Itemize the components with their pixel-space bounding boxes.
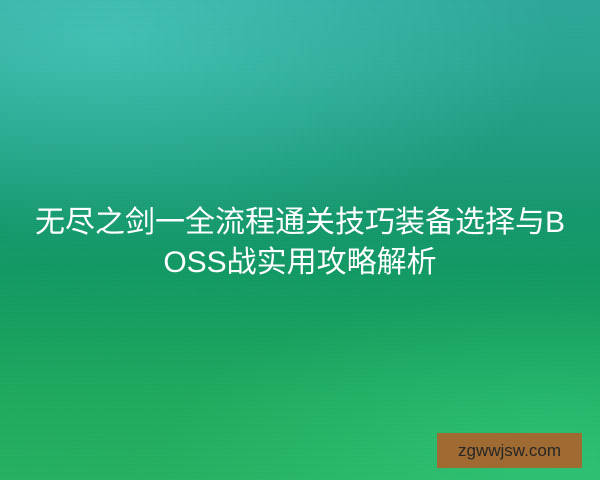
cover-title: 无尽之剑一全流程通关技巧装备选择与BOSS战实用攻略解析 <box>28 203 572 283</box>
article-cover-card: 无尽之剑一全流程通关技巧装备选择与BOSS战实用攻略解析 zgwwjsw.com <box>0 0 600 480</box>
watermark-site-url: zgwwjsw.com <box>458 442 561 459</box>
watermark-badge: zgwwjsw.com <box>437 433 582 468</box>
